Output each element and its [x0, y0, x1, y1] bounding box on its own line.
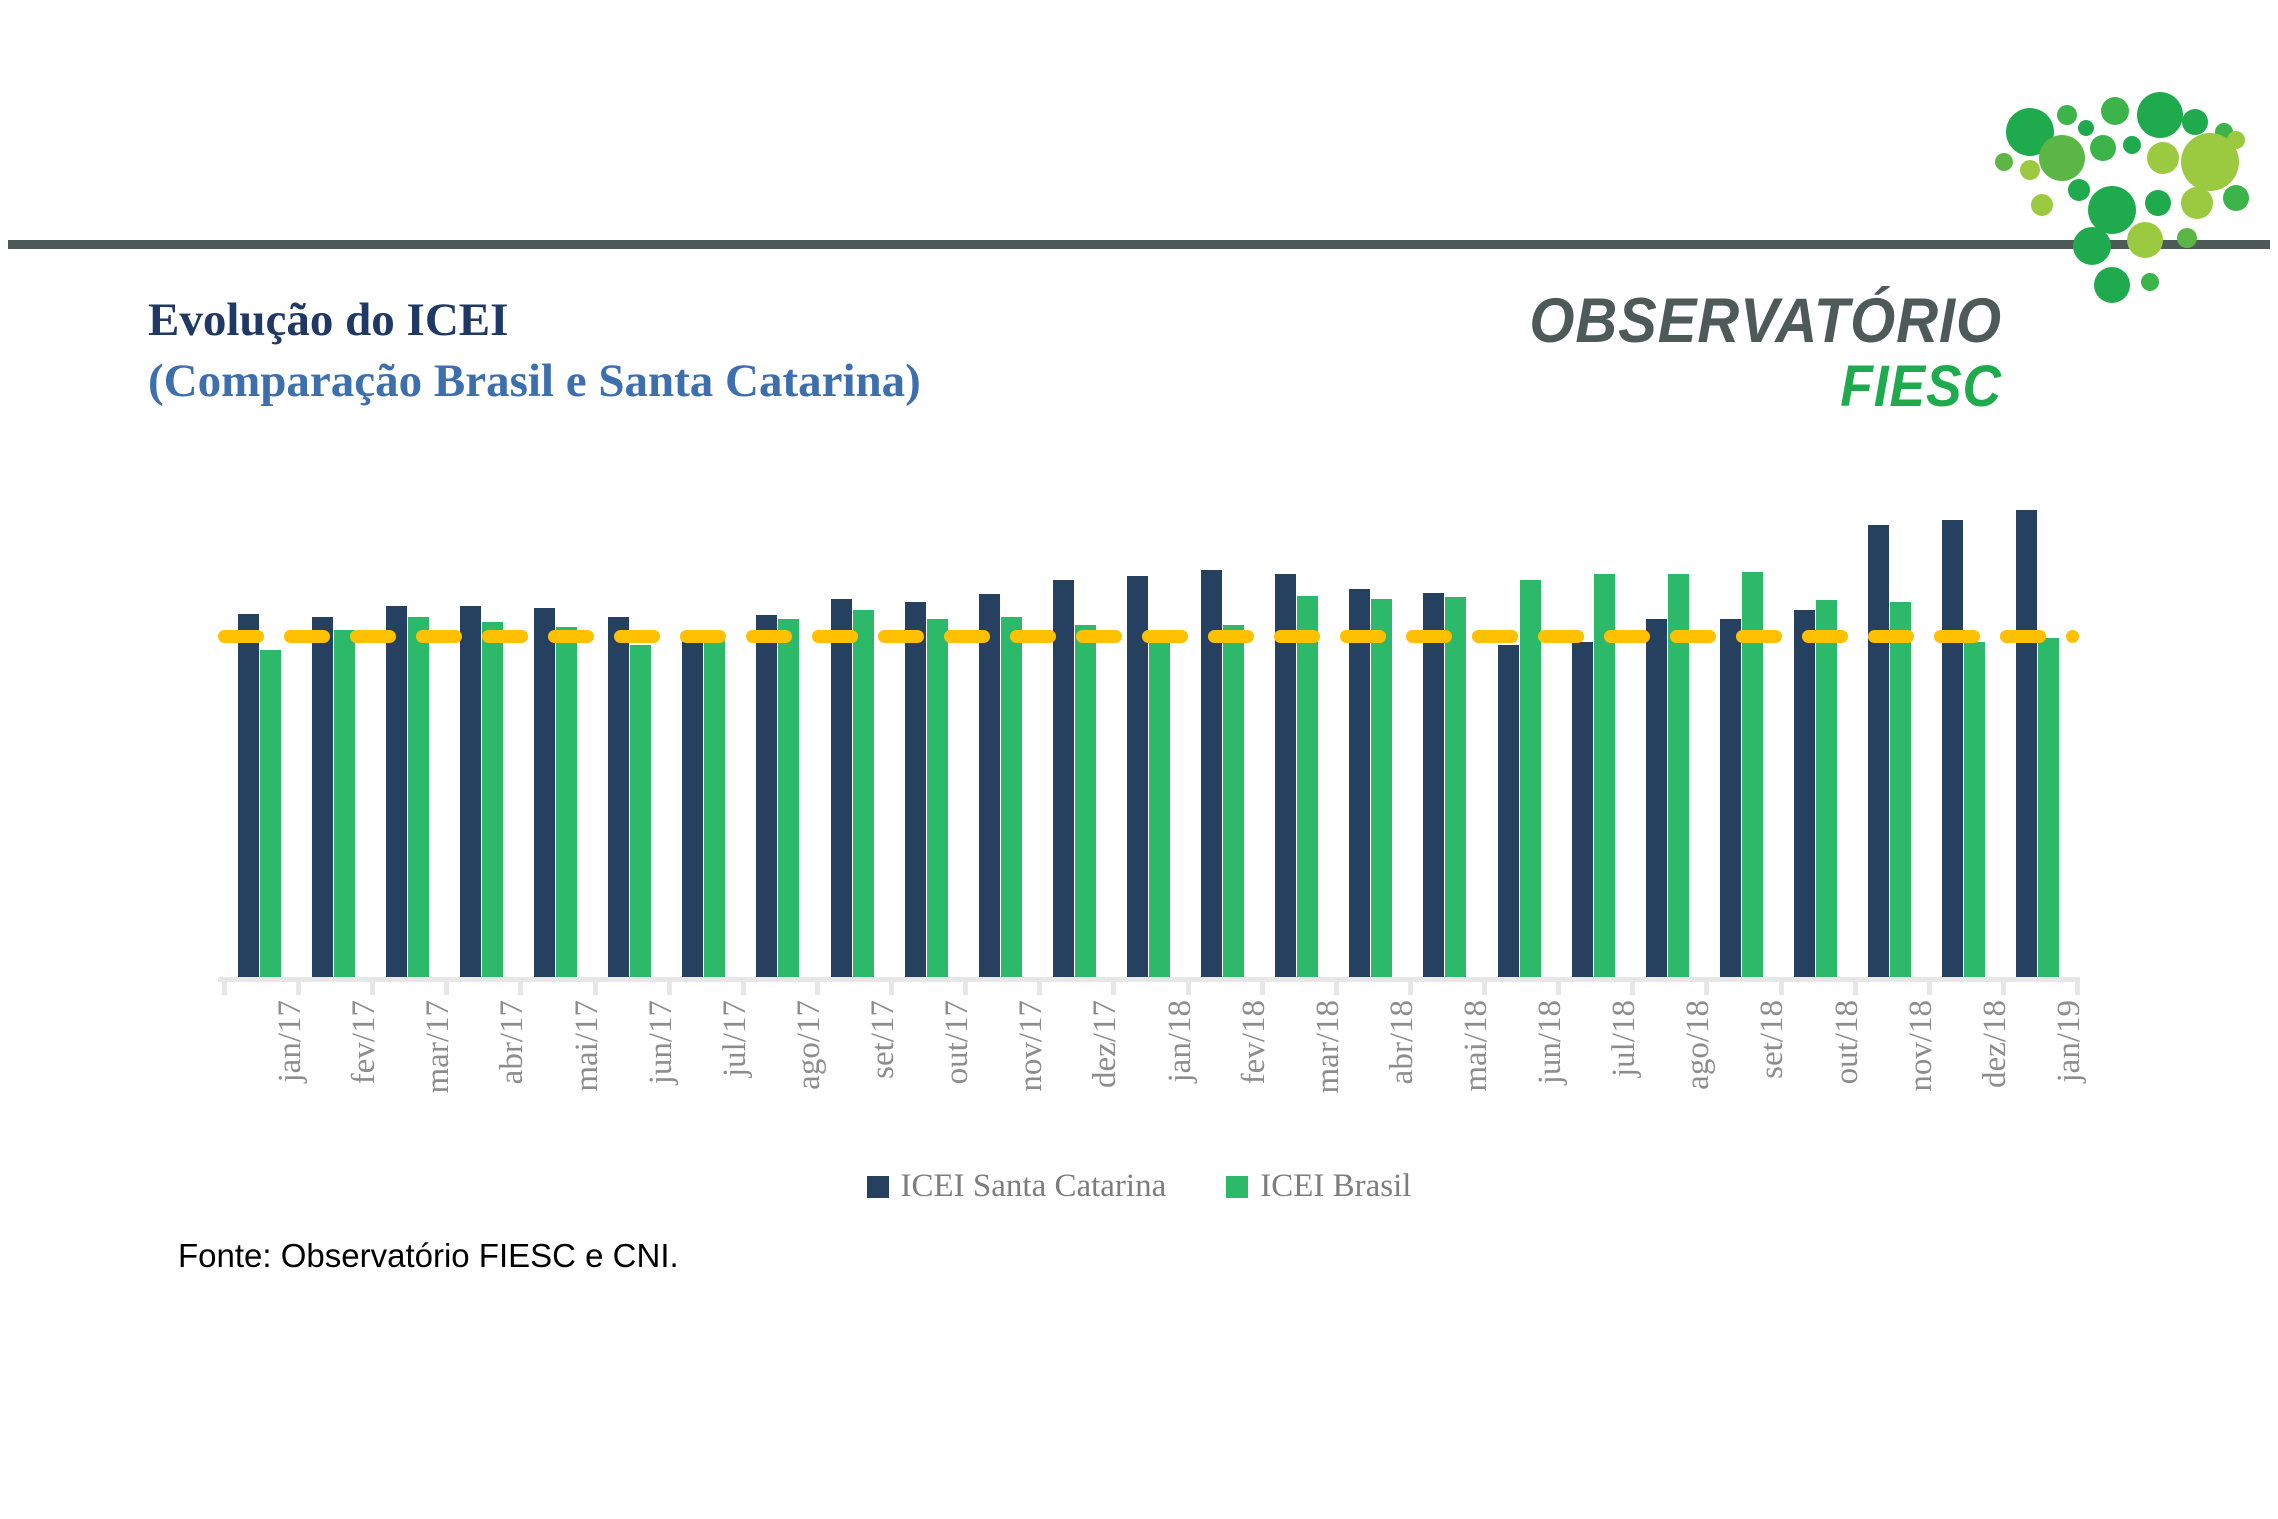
- x-axis-tick: [1111, 977, 1116, 995]
- x-axis-tick: [593, 977, 598, 995]
- x-axis-tick: [815, 977, 820, 995]
- x-axis-tick: [963, 977, 968, 995]
- bar-icei-brasil: [1001, 617, 1022, 978]
- x-axis-label: mai/18: [1458, 1000, 1495, 1092]
- x-axis-label: set/17: [865, 1000, 902, 1079]
- bar-icei-santa-catarina: [682, 636, 703, 978]
- x-axis-label: mar/17: [420, 1000, 457, 1093]
- bar-icei-santa-catarina: [1498, 645, 1519, 978]
- bar-icei-brasil: [1149, 635, 1170, 978]
- x-axis-tick: [1482, 977, 1487, 995]
- x-axis-label: ago/17: [791, 1000, 828, 1090]
- x-axis-tick: [1927, 977, 1932, 995]
- x-axis-tick: [1556, 977, 1561, 995]
- bar-icei-brasil: [778, 619, 799, 978]
- bar-icei-santa-catarina: [608, 617, 629, 978]
- bar-icei-santa-catarina: [1127, 576, 1148, 978]
- x-axis-tick: [2075, 977, 2080, 995]
- x-axis-label: jan/17: [272, 1000, 309, 1082]
- x-axis-label: mar/18: [1310, 1000, 1347, 1093]
- x-axis-label: dez/18: [1977, 1000, 2014, 1088]
- x-axis-line: [218, 977, 2079, 982]
- x-axis-label: nov/17: [1013, 1000, 1050, 1092]
- bar-icei-brasil: [1371, 599, 1392, 978]
- icei-evolution-bar-chart: jan/17fev/17mar/17abr/17mai/17jun/17jul/…: [0, 0, 2278, 1519]
- bar-icei-brasil: [853, 610, 874, 978]
- legend-swatch-sc: [867, 1176, 889, 1198]
- x-axis-label: abr/17: [494, 1000, 531, 1084]
- bar-icei-santa-catarina: [312, 617, 333, 978]
- legend-label-sc: ICEI Santa Catarina: [901, 1168, 1167, 1205]
- x-axis-tick: [1408, 977, 1413, 995]
- bar-icei-brasil: [704, 638, 725, 978]
- x-axis-label: nov/18: [1903, 1000, 1940, 1092]
- bar-icei-santa-catarina: [2016, 510, 2037, 978]
- legend-label-br: ICEI Brasil: [1260, 1168, 1411, 1205]
- bar-icei-santa-catarina: [1646, 619, 1667, 978]
- bar-icei-brasil: [1742, 572, 1763, 978]
- x-axis-tick: [1779, 977, 1784, 995]
- bar-icei-santa-catarina: [831, 599, 852, 978]
- bar-icei-santa-catarina: [1868, 525, 1889, 978]
- bar-icei-brasil: [1668, 574, 1689, 978]
- bar-icei-brasil: [1520, 580, 1541, 978]
- x-axis-tick: [1630, 977, 1635, 995]
- bar-icei-santa-catarina: [905, 602, 926, 978]
- bar-icei-brasil: [334, 630, 355, 979]
- x-axis-label: jan/19: [2051, 1000, 2088, 1082]
- x-axis-tick: [1037, 977, 1042, 995]
- x-axis-label: jun/17: [643, 1000, 680, 1084]
- bar-icei-santa-catarina: [756, 615, 777, 978]
- x-axis-label: fev/17: [346, 1000, 383, 1084]
- bar-icei-santa-catarina: [1275, 574, 1296, 978]
- bar-icei-santa-catarina: [386, 606, 407, 978]
- x-axis-tick: [370, 977, 375, 995]
- bar-icei-brasil: [260, 650, 281, 978]
- bar-icei-brasil: [1223, 625, 1244, 978]
- legend-swatch-br: [1226, 1176, 1248, 1198]
- bar-icei-brasil: [556, 627, 577, 978]
- legend-item-br[interactable]: ICEI Brasil: [1226, 1168, 1411, 1205]
- x-axis-tick: [296, 977, 301, 995]
- bar-icei-brasil: [1816, 600, 1837, 978]
- bar-icei-santa-catarina: [1942, 520, 1963, 978]
- bar-icei-santa-catarina: [1720, 619, 1741, 978]
- x-axis-label: fev/18: [1236, 1000, 1273, 1084]
- x-axis-label: out/18: [1829, 1000, 1866, 1084]
- x-axis-tick: [444, 977, 449, 995]
- x-axis-label: jul/18: [1606, 1000, 1643, 1077]
- bar-icei-brasil: [2038, 638, 2059, 978]
- bar-icei-brasil: [1297, 596, 1318, 978]
- chart-legend: ICEI Santa CatarinaICEI Brasil: [0, 1168, 2278, 1205]
- x-axis-label: set/18: [1754, 1000, 1791, 1079]
- bar-icei-brasil: [1890, 602, 1911, 978]
- bar-icei-santa-catarina: [1053, 580, 1074, 978]
- x-axis-tick: [741, 977, 746, 995]
- x-axis-label: dez/17: [1087, 1000, 1124, 1088]
- bar-icei-santa-catarina: [1572, 642, 1593, 978]
- bar-icei-brasil: [630, 645, 651, 978]
- bar-icei-santa-catarina: [1794, 610, 1815, 978]
- x-axis-tick: [1334, 977, 1339, 995]
- bar-icei-brasil: [1964, 642, 1985, 978]
- x-axis-tick: [667, 977, 672, 995]
- x-axis-label: jan/18: [1162, 1000, 1199, 1082]
- bar-icei-santa-catarina: [1349, 589, 1370, 978]
- bar-icei-brasil: [1594, 574, 1615, 978]
- x-axis-tick: [2001, 977, 2006, 995]
- bar-icei-brasil: [1075, 625, 1096, 978]
- bar-icei-brasil: [408, 617, 429, 978]
- x-axis-tick: [518, 977, 523, 995]
- bar-icei-brasil: [482, 622, 503, 978]
- legend-item-sc[interactable]: ICEI Santa Catarina: [867, 1168, 1167, 1205]
- bar-icei-brasil: [927, 619, 948, 978]
- x-axis-label: mai/17: [569, 1000, 606, 1092]
- x-axis-tick: [889, 977, 894, 995]
- x-axis-label: abr/18: [1384, 1000, 1421, 1084]
- x-axis-tick: [1260, 977, 1265, 995]
- x-axis-label: out/17: [939, 1000, 976, 1084]
- x-axis-tick: [222, 977, 227, 995]
- chart-plot-area: [222, 460, 2075, 978]
- x-axis-label: ago/18: [1680, 1000, 1717, 1090]
- x-axis-label: jun/18: [1532, 1000, 1569, 1084]
- x-axis-label: jul/17: [717, 1000, 754, 1077]
- x-axis-tick: [1186, 977, 1191, 995]
- bar-icei-santa-catarina: [534, 608, 555, 978]
- x-axis-tick: [1704, 977, 1709, 995]
- bar-icei-brasil: [1445, 597, 1466, 978]
- bar-icei-santa-catarina: [460, 606, 481, 978]
- bar-icei-santa-catarina: [1423, 593, 1444, 978]
- bar-icei-santa-catarina: [238, 614, 259, 978]
- bar-icei-santa-catarina: [979, 594, 1000, 978]
- bar-icei-santa-catarina: [1201, 570, 1222, 978]
- x-axis-tick: [1853, 977, 1858, 995]
- source-note: Fonte: Observatório FIESC e CNI.: [178, 1237, 679, 1275]
